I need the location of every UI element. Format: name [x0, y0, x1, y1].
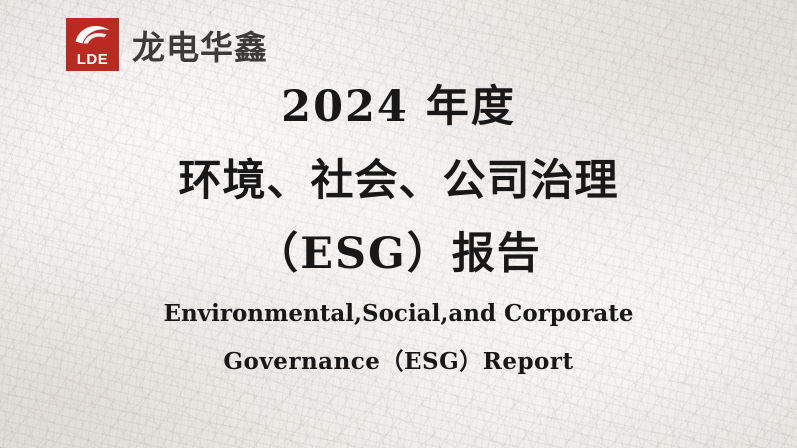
swoosh-icon — [74, 24, 111, 45]
title-line-english-2: Governance（ESG）Report — [0, 350, 797, 373]
title-line-year: 2024 年度 — [0, 86, 797, 129]
title-line-english-1: Environmental,Social,and Corporate — [0, 302, 797, 325]
title-line-report-chinese: （ESG）报告 — [0, 233, 797, 276]
lde-logo-mark: LDE — [66, 18, 119, 71]
cover-title-area: 2024 年度 环境、社会、公司治理 （ESG）报告 Environmental… — [0, 86, 797, 373]
report-cover-page: LDE 龙电华鑫 2024 年度 环境、社会、公司治理 （ESG）报告 Envi… — [0, 0, 797, 448]
title-line-esg-chinese: 环境、社会、公司治理 — [0, 160, 797, 203]
company-name-chinese: 龙电华鑫 — [132, 21, 268, 69]
lde-logo-text: LDE — [77, 52, 109, 68]
company-logo: LDE 龙电华鑫 — [66, 18, 268, 71]
